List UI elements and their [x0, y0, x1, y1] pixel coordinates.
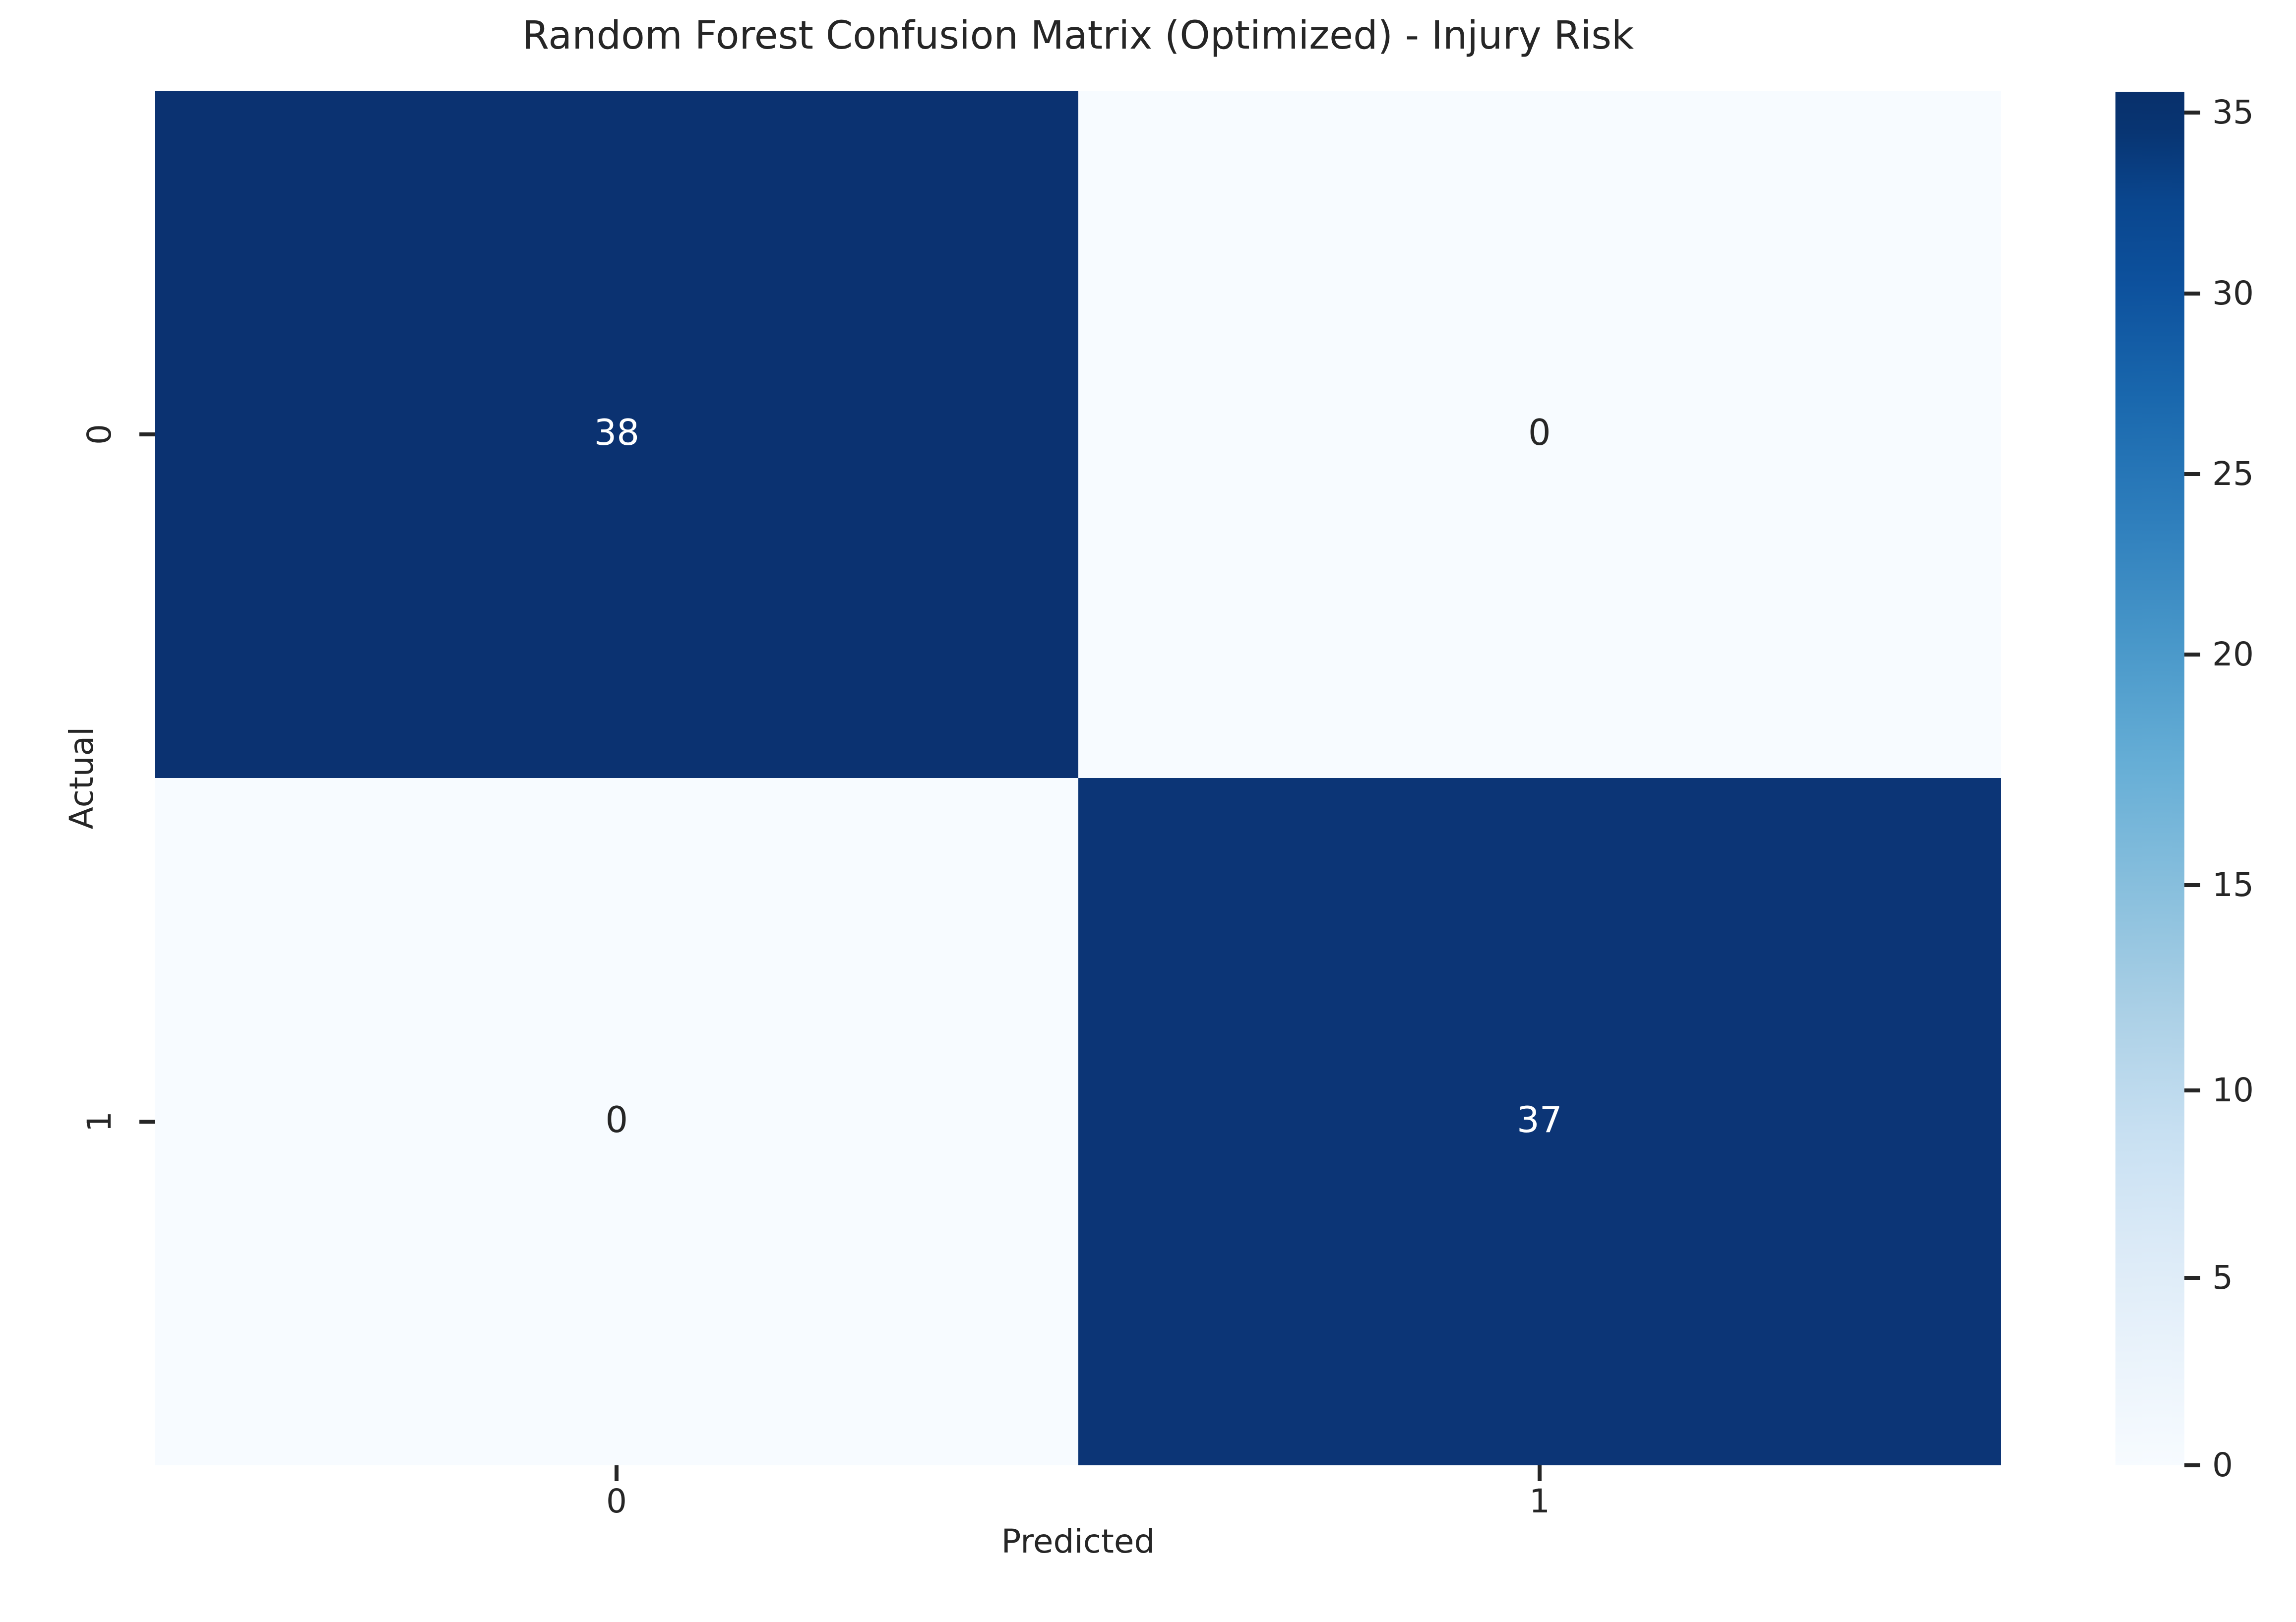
colorbar-tick-mark-icon: [2184, 292, 2200, 296]
colorbar-tick-label: 25: [2212, 454, 2254, 494]
colorbar-tick-label: 15: [2212, 865, 2254, 905]
colorbar-tick-mark-icon: [2184, 653, 2200, 657]
colorbar-tick-mark-icon: [2184, 111, 2200, 115]
heatmap-cell-0-0: 38: [155, 91, 1078, 778]
x-tick-label: 0: [567, 1485, 666, 1518]
x-axis-label: Predicted: [155, 1522, 2001, 1561]
y-axis-label: Actual: [55, 91, 109, 1465]
colorbar-tick-label: 5: [2212, 1258, 2233, 1298]
colorbar-tick-mark-icon: [2184, 472, 2200, 476]
colorbar-gradient: [2115, 92, 2184, 1465]
colorbar-tick-label: 30: [2212, 274, 2254, 313]
confusion-matrix-figure: Random Forest Confusion Matrix (Optimize…: [0, 0, 2296, 1622]
heatmap-cell-0-1: 0: [1078, 91, 2001, 778]
heatmap-grid: 38 0 0 37: [155, 91, 2001, 1465]
cell-value: 38: [594, 415, 639, 450]
colorbar-tick-label: 0: [2212, 1445, 2233, 1485]
cell-value: 0: [605, 1102, 628, 1138]
page-title: Random Forest Confusion Matrix (Optimize…: [155, 15, 2001, 58]
heatmap-cell-1-1: 37: [1078, 778, 2001, 1465]
colorbar-tick-mark-icon: [2184, 1463, 2200, 1467]
colorbar-tick-label: 20: [2212, 635, 2254, 674]
colorbar-tick-mark-icon: [2184, 1088, 2200, 1092]
y-tick-label: 1: [81, 1092, 119, 1151]
colorbar-tick-label: 35: [2212, 93, 2254, 132]
cell-value: 0: [1528, 415, 1551, 450]
heatmap-cell-1-0: 0: [155, 778, 1078, 1465]
colorbar-tick-label: 10: [2212, 1071, 2254, 1110]
colorbar-tick-mark-icon: [2184, 1276, 2200, 1280]
y-tick-mark-icon: [139, 1120, 155, 1124]
y-tick-mark-icon: [139, 432, 155, 436]
x-tick-label: 1: [1490, 1485, 1589, 1518]
colorbar-tick-mark-icon: [2184, 883, 2200, 887]
cell-value: 37: [1517, 1102, 1562, 1138]
y-tick-label: 0: [81, 405, 119, 464]
x-tick-mark-icon: [615, 1465, 619, 1481]
x-tick-mark-icon: [1538, 1465, 1542, 1481]
